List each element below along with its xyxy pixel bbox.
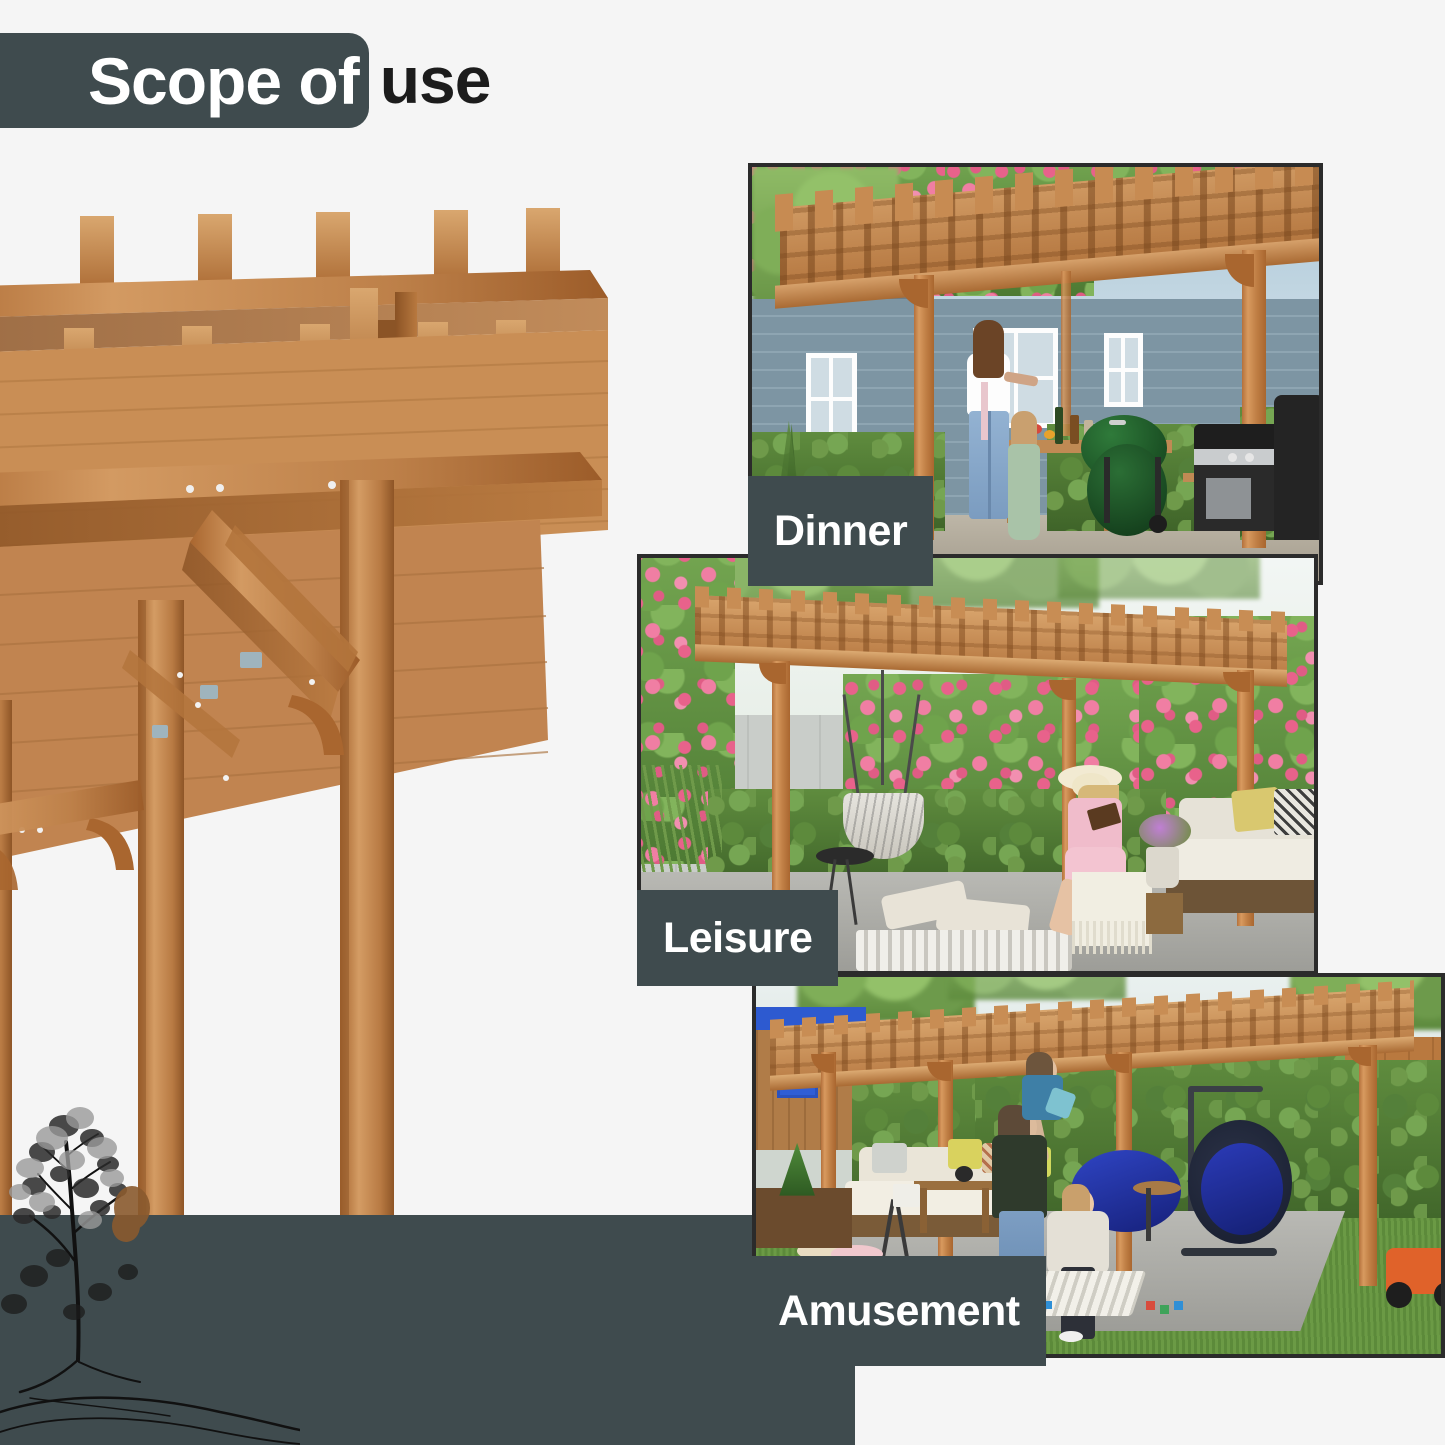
bottom-accent-band [0,1215,855,1445]
card-caption-amusement: Amusement [752,1256,1046,1366]
caption-text-leisure: Leisure [663,917,812,960]
pergola-illustration [0,180,620,1280]
title-highlight-badge: Scope of [0,33,369,128]
card-caption-leisure: Leisure [637,890,838,986]
hero-pergola-image [0,180,620,1280]
card-caption-dinner: Dinner [748,476,933,586]
page-title: Scope of use [0,33,490,128]
poster-canvas: Scope of use [0,0,1445,1445]
title-tail-text: use [369,47,491,115]
caption-text-dinner: Dinner [774,510,907,553]
caption-text-amusement: Amusement [778,1290,1020,1333]
title-highlight-text: Scope of [88,48,359,114]
